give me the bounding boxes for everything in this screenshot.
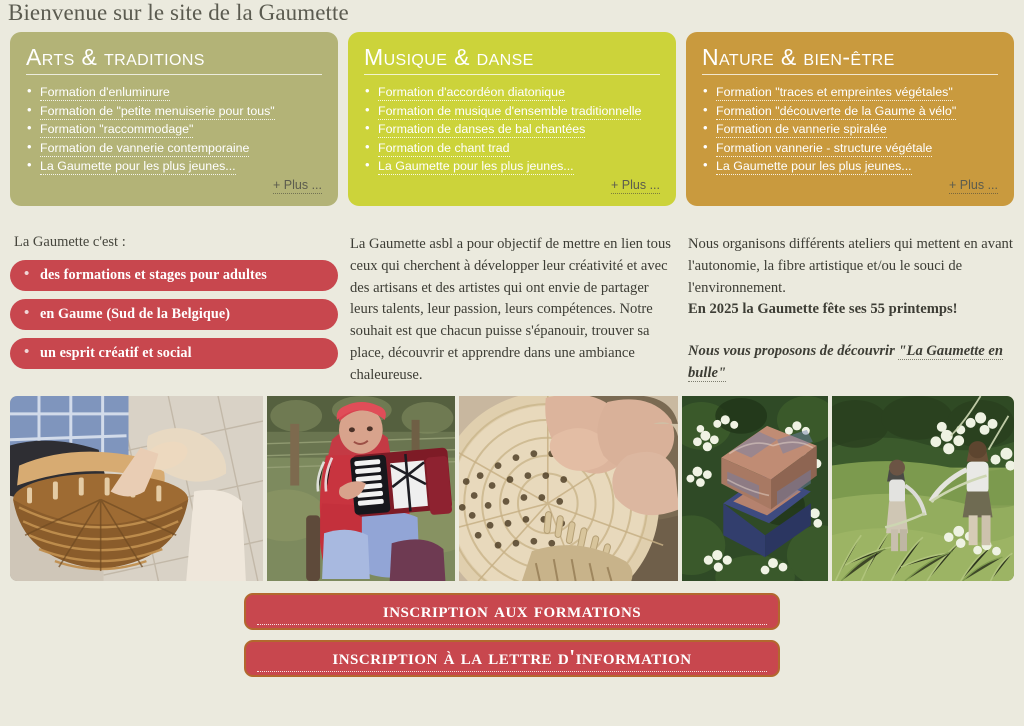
intro-pill: en Gaume (Sud de la Belgique) — [10, 299, 338, 330]
list-item: Formation "découverte de la Gaume à vélo… — [702, 102, 998, 121]
list-item: Formation "traces et empreintes végétale… — [702, 83, 998, 102]
anniversary-highlight: En 2025 la Gaumette fête ses 55 printemp… — [688, 299, 1014, 321]
card-link[interactable]: La Gaumette pour les plus jeunes... — [716, 159, 912, 175]
category-cards-row: Arts & Traditions Formation d'enluminure… — [0, 28, 1024, 206]
card-link[interactable]: Formation d'accordéon diatonique — [378, 85, 565, 101]
card-link-list: Formation d'accordéon diatonique Formati… — [364, 83, 660, 176]
savon-fleurs-icon — [682, 396, 828, 581]
card-title: Arts & Traditions — [26, 44, 322, 74]
card-link[interactable]: Formation de chant trad — [378, 141, 510, 157]
card-link[interactable]: Formation de vannerie spiralée — [716, 122, 887, 138]
card-more-link[interactable]: + Plus ... — [611, 178, 660, 194]
workshops-column: Nous organisons différents ateliers qui … — [686, 234, 1014, 378]
list-item: Formation vannerie - structure végétale — [702, 139, 998, 158]
list-item: Formation d'accordéon diatonique — [364, 83, 660, 102]
card-link[interactable]: Formation vannerie - structure végétale — [716, 141, 932, 157]
list-item: Formation de vannerie contemporaine — [26, 139, 322, 158]
card-link[interactable]: Formation d'enluminure — [40, 85, 170, 101]
accordeoniste-icon — [267, 396, 455, 581]
inscription-newsletter-button[interactable]: Inscription à la lettre d'information — [244, 640, 780, 677]
inscription-formations-label: Inscription aux formations — [257, 598, 768, 625]
mission-paragraph: La Gaumette asbl a pour objectif de mett… — [350, 234, 676, 387]
card-link[interactable]: La Gaumette pour les plus jeunes... — [40, 159, 236, 175]
card-link-list: Formation "traces et empreintes végétale… — [702, 83, 998, 176]
workshops-paragraph: Nous organisons différents ateliers qui … — [688, 234, 1014, 299]
intro-text-row: La Gaumette c'est : des formations et st… — [0, 206, 1024, 378]
card-more-link[interactable]: + Plus ... — [949, 178, 998, 194]
card-link[interactable]: Formation "découverte de la Gaume à vélo… — [716, 104, 956, 120]
card-title: Musique & Danse — [364, 44, 660, 74]
gallery-photo-cannage-chaise — [459, 396, 678, 581]
list-item: La Gaumette pour les plus jeunes... — [364, 157, 660, 176]
list-item: Formation d'enluminure — [26, 83, 322, 102]
card-link[interactable]: Formation de vannerie contemporaine — [40, 141, 249, 157]
card-link[interactable]: Formation "traces et empreintes végétale… — [716, 85, 953, 101]
intro-column: La Gaumette c'est : des formations et st… — [10, 234, 338, 378]
list-item: Formation de musique d'ensemble traditio… — [364, 102, 660, 121]
vannerie-panier-icon — [10, 396, 263, 581]
faucheurs-prairie-icon — [832, 396, 1014, 581]
category-card-musique-danse: Musique & Danse Formation d'accordéon di… — [348, 32, 676, 206]
card-link-list: Formation d'enluminure Formation de "pet… — [26, 83, 322, 176]
intro-pill: des formations et stages pour adultes — [10, 260, 338, 291]
list-item: Formation de "petite menuiserie pour tou… — [26, 102, 322, 121]
list-item: Formation "raccommodage" — [26, 120, 322, 139]
card-link[interactable]: La Gaumette pour les plus jeunes... — [378, 159, 574, 175]
list-item: Formation de danses de bal chantées — [364, 120, 660, 139]
category-card-nature-bien-etre: Nature & Bien-être Formation "traces et … — [686, 32, 1014, 206]
card-title-rule — [364, 74, 660, 75]
list-item: Formation de vannerie spiralée — [702, 120, 998, 139]
intro-pill: un esprit créatif et social — [10, 338, 338, 369]
card-link[interactable]: Formation de musique d'ensemble traditio… — [378, 104, 641, 120]
cannage-chaise-icon — [459, 396, 678, 581]
card-link[interactable]: Formation de danses de bal chantées — [378, 122, 585, 138]
card-title-rule — [702, 74, 998, 75]
card-more-link[interactable]: + Plus ... — [273, 178, 322, 194]
card-link[interactable]: Formation de "petite menuiserie pour tou… — [40, 104, 275, 120]
list-item: Formation de chant trad — [364, 139, 660, 158]
gallery-photo-savon-fleurs — [682, 396, 828, 581]
mission-column: La Gaumette asbl a pour objectif de mett… — [348, 234, 676, 378]
intro-label: La Gaumette c'est : — [14, 234, 338, 251]
category-card-arts-traditions: Arts & Traditions Formation d'enluminure… — [10, 32, 338, 206]
invite-prefix: Nous vous proposons de découvrir — [688, 343, 898, 359]
cta-buttons: Inscription aux formations Inscription à… — [0, 581, 1024, 677]
page-title: Bienvenue sur le site de la Gaumette — [0, 0, 1024, 28]
card-title-rule — [26, 74, 322, 75]
list-item: La Gaumette pour les plus jeunes... — [26, 157, 322, 176]
card-title: Nature & Bien-être — [702, 44, 998, 74]
gallery-photo-vannerie-panier — [10, 396, 263, 581]
inscription-formations-button[interactable]: Inscription aux formations — [244, 593, 780, 630]
photo-gallery-strip — [10, 396, 1014, 581]
gallery-photo-faucheurs-prairie — [832, 396, 1014, 581]
invite-paragraph: Nous vous proposons de découvrir "La Gau… — [688, 341, 1014, 385]
list-item: La Gaumette pour les plus jeunes... — [702, 157, 998, 176]
gallery-photo-accordeoniste — [267, 396, 455, 581]
card-link[interactable]: Formation "raccommodage" — [40, 122, 193, 138]
inscription-newsletter-label: Inscription à la lettre d'information — [257, 645, 768, 672]
